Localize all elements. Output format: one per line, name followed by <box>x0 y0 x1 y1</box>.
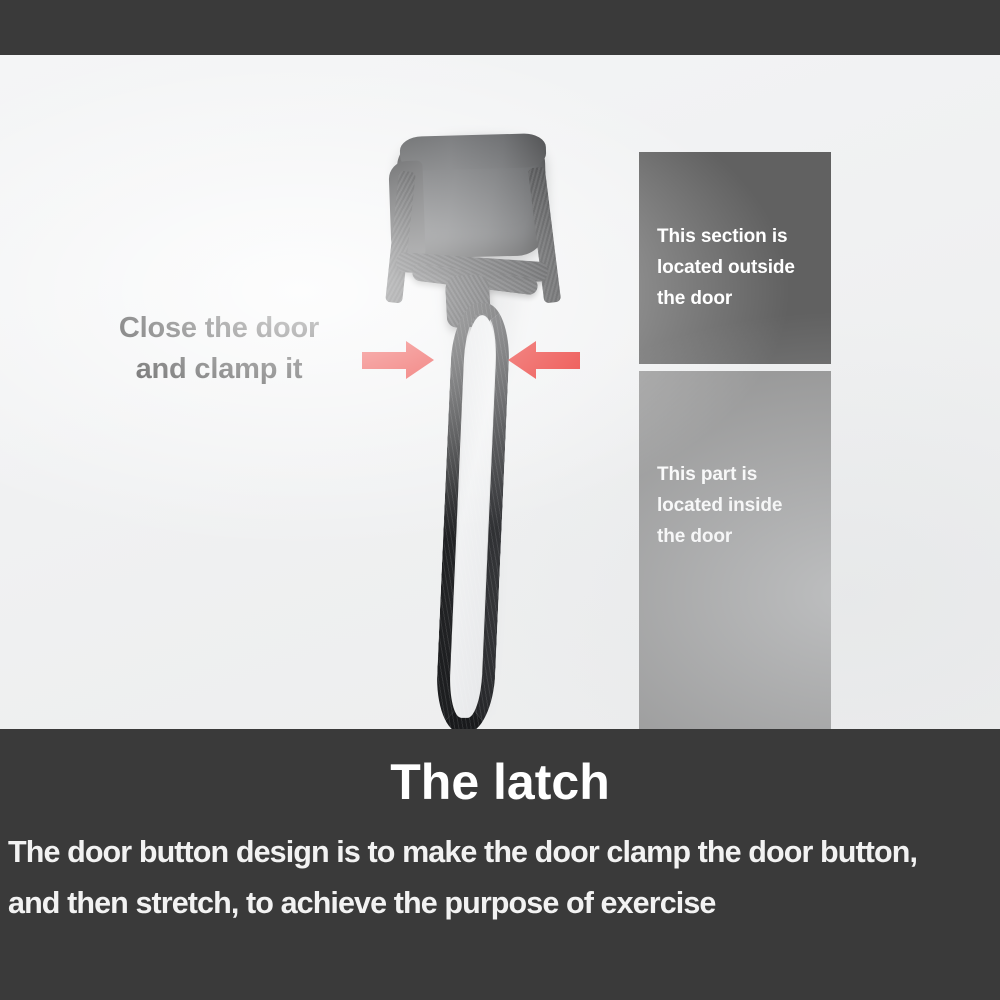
door-anchor-product <box>360 75 590 729</box>
caption-title: The latch <box>0 753 1000 811</box>
arrow-head <box>508 341 536 379</box>
caption-body: The door button design is to make the do… <box>8 827 998 929</box>
arrow-pointing-left-icon <box>508 341 580 379</box>
arrow-shaft <box>362 352 410 369</box>
infographic-page: Close the door and clamp it This section… <box>0 0 1000 1000</box>
top-band <box>0 0 1000 55</box>
panel-inside-door: This part is located inside the door <box>639 371 831 729</box>
arrow-pointing-right-icon <box>362 341 434 379</box>
arrow-head <box>406 341 434 379</box>
caption-band: The latch The door button design is to m… <box>0 729 1000 1000</box>
arrow-shaft <box>532 352 580 369</box>
product-photo-stage: Close the door and clamp it This section… <box>0 55 1000 729</box>
callout-close-the-door: Close the door and clamp it <box>84 308 354 390</box>
panel-outside-door: This section is located outside the door <box>639 152 831 364</box>
